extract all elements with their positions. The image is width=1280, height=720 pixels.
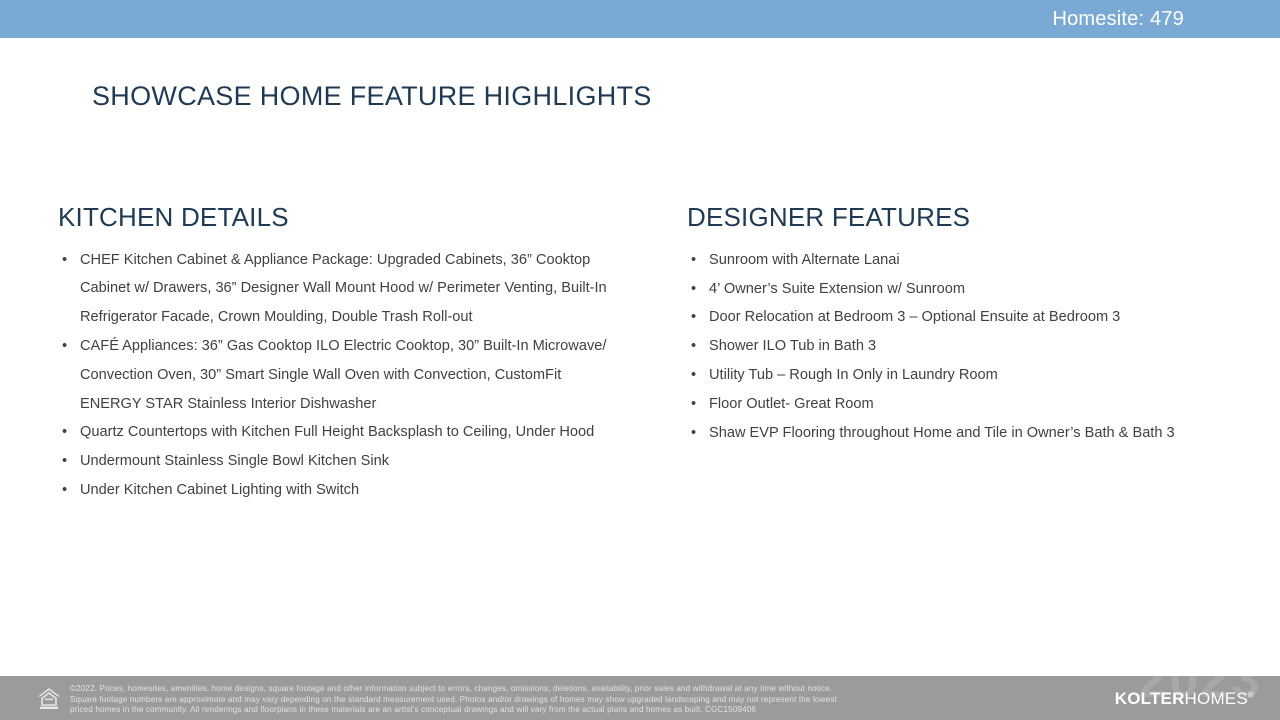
disclaimer-line: ©2022. Prices, homesites, amenities, hom… — [70, 684, 1080, 695]
list-item-text: Utility Tub – Rough In Only in Laundry R… — [709, 361, 1267, 390]
list-item: • Shaw EVP Flooring throughout Home and … — [687, 419, 1267, 448]
logo-light-text: HOMES — [1185, 689, 1248, 708]
kolter-homes-logo: KOLTERHOMES® — [1115, 689, 1254, 709]
kitchen-details-heading: KITCHEN DETAILS — [58, 203, 618, 232]
registered-trademark-icon: ® — [1248, 690, 1254, 699]
bullet-icon: • — [62, 418, 67, 447]
bullet-icon: • — [691, 275, 696, 304]
list-item-text: Undermount Stainless Single Bowl Kitchen… — [80, 447, 618, 476]
logo-bold-text: KOLTER — [1115, 689, 1185, 708]
designer-features-heading: DESIGNER FEATURES — [687, 203, 1267, 232]
list-item-text: Floor Outlet- Great Room — [709, 390, 1267, 419]
list-item-text: Shower ILO Tub in Bath 3 — [709, 332, 1267, 361]
homesite-label: Homesite: 479 — [1052, 8, 1184, 31]
list-item-text: 4’ Owner’s Suite Extension w/ Sunroom — [709, 275, 1267, 304]
kitchen-details-column: KITCHEN DETAILS • CHEF Kitchen Cabinet &… — [58, 203, 618, 505]
disclaimer-line: Square footage numbers are approximate a… — [70, 695, 1080, 706]
bullet-icon: • — [691, 246, 696, 275]
bullet-icon: • — [691, 419, 696, 448]
kitchen-details-list: • CHEF Kitchen Cabinet & Appliance Packa… — [58, 246, 618, 505]
list-item-text: Quartz Countertops with Kitchen Full Hei… — [80, 418, 618, 447]
list-item-text: CHEF Kitchen Cabinet & Appliance Package… — [80, 246, 618, 332]
list-item: • Under Kitchen Cabinet Lighting with Sw… — [58, 476, 618, 505]
page-title: SHOWCASE HOME FEATURE HIGHLIGHTS — [92, 81, 652, 112]
list-item: • CAFÉ Appliances: 36” Gas Cooktop ILO E… — [58, 332, 618, 418]
bullet-icon: • — [691, 390, 696, 419]
designer-features-list: • Sunroom with Alternate Lanai • 4’ Owne… — [687, 246, 1267, 448]
list-item-text: Shaw EVP Flooring throughout Home and Ti… — [709, 419, 1267, 448]
list-item-text: CAFÉ Appliances: 36” Gas Cooktop ILO Ele… — [80, 332, 618, 418]
disclaimer-line: priced homes in the community. All rende… — [70, 705, 1080, 716]
list-item: • Quartz Countertops with Kitchen Full H… — [58, 418, 618, 447]
bullet-icon: • — [691, 303, 696, 332]
list-item-text: Sunroom with Alternate Lanai — [709, 246, 1267, 275]
list-item: • Shower ILO Tub in Bath 3 — [687, 332, 1267, 361]
list-item: • Utility Tub – Rough In Only in Laundry… — [687, 361, 1267, 390]
list-item-text: Under Kitchen Cabinet Lighting with Swit… — [80, 476, 618, 505]
footer-disclaimer: ©2022. Prices, homesites, amenities, hom… — [70, 684, 1080, 716]
bullet-icon: • — [62, 476, 67, 505]
bullet-icon: • — [62, 332, 67, 361]
list-item: • CHEF Kitchen Cabinet & Appliance Packa… — [58, 246, 618, 332]
designer-features-column: DESIGNER FEATURES • Sunroom with Alterna… — [687, 203, 1267, 448]
bullet-icon: • — [62, 447, 67, 476]
list-item-text: Door Relocation at Bedroom 3 – Optional … — [709, 303, 1267, 332]
list-item: • Floor Outlet- Great Room — [687, 390, 1267, 419]
bullet-icon: • — [691, 332, 696, 361]
list-item: • Sunroom with Alternate Lanai — [687, 246, 1267, 275]
list-item: • Undermount Stainless Single Bowl Kitch… — [58, 447, 618, 476]
list-item: • Door Relocation at Bedroom 3 – Optiona… — [687, 303, 1267, 332]
equal-housing-opportunity-icon — [36, 685, 62, 711]
bullet-icon: • — [62, 246, 67, 275]
bullet-icon: • — [691, 361, 696, 390]
list-item: • 4’ Owner’s Suite Extension w/ Sunroom — [687, 275, 1267, 304]
